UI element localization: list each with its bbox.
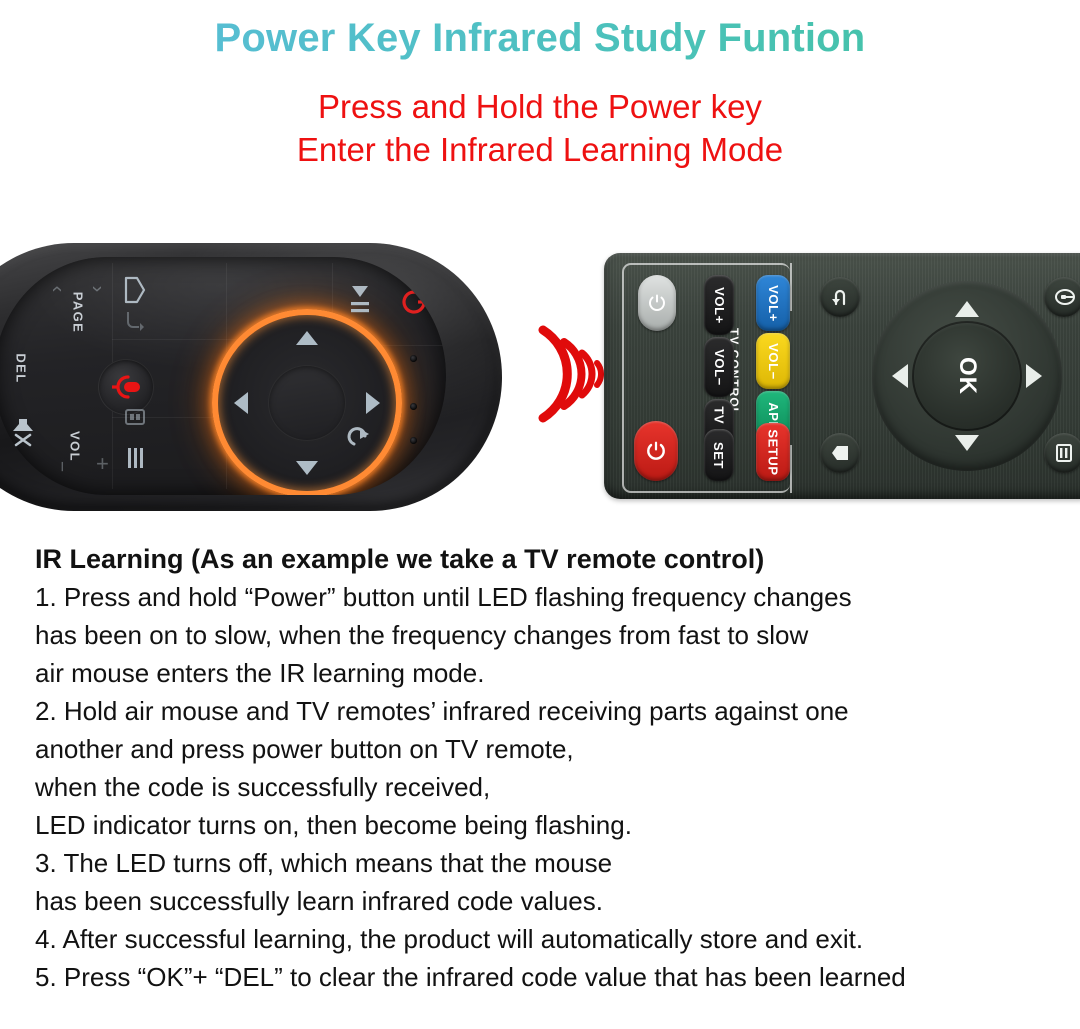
arrow-left-icon[interactable] bbox=[892, 364, 908, 388]
tv-dpad[interactable]: OK bbox=[872, 281, 1062, 471]
air-mouse-mute-button[interactable] bbox=[6, 417, 40, 451]
instruction-line: 1. Press and hold “Power” button until L… bbox=[35, 578, 1055, 616]
air-mouse-dpad-led-ring[interactable] bbox=[212, 309, 402, 495]
air-mouse-button-face: DEL PAGE ‹ › bbox=[0, 257, 446, 495]
air-mouse-page-label: PAGE bbox=[71, 285, 86, 341]
vol-up-button[interactable]: VOL+ bbox=[756, 275, 790, 331]
tv-power-button[interactable] bbox=[634, 421, 678, 481]
source-input-icon bbox=[1052, 286, 1076, 308]
arrow-right-icon[interactable] bbox=[366, 392, 380, 414]
instruction-line: 3. The LED turns off, which means that t… bbox=[35, 844, 1055, 882]
setup-label: SETUP bbox=[766, 429, 781, 475]
mute-icon bbox=[6, 417, 40, 447]
arrow-right-icon[interactable] bbox=[1026, 364, 1042, 388]
instruction-line: another and press power button on TV rem… bbox=[35, 730, 1055, 768]
air-mouse-rotate-button[interactable] bbox=[346, 425, 376, 459]
back-arrow-icon bbox=[829, 286, 851, 308]
tv-control-vol-up-button[interactable]: VOL+ bbox=[704, 275, 734, 335]
infographic-page: Power Key Infrared Study Funtion Press a… bbox=[0, 0, 1080, 1029]
ok-button[interactable]: OK bbox=[912, 321, 1022, 431]
back-button[interactable] bbox=[820, 277, 860, 317]
led-indicator-dot bbox=[410, 355, 417, 362]
tv-remote-control: TV CONTROL VOL+ VOL− TV IN SET bbox=[604, 253, 1080, 503]
instruction-line: air mouse enters the IR learning mode. bbox=[35, 654, 1055, 692]
home-icon bbox=[122, 275, 148, 305]
arrow-down-icon[interactable] bbox=[955, 435, 979, 451]
tv-control-power-button[interactable] bbox=[638, 275, 676, 331]
instruction-line: 2. Hold air mouse and TV remotes’ infrar… bbox=[35, 692, 1055, 730]
instructions-block: IR Learning (As an example we take a TV … bbox=[35, 540, 1055, 996]
menu-icon bbox=[124, 445, 148, 471]
instructions-heading: IR Learning (As an example we take a TV … bbox=[35, 540, 1055, 578]
menu-button[interactable] bbox=[1044, 433, 1080, 473]
collapse-icon bbox=[346, 283, 374, 317]
led-indicator-dot bbox=[410, 403, 417, 410]
subtitle-line-2: Enter the Infrared Learning Mode bbox=[0, 131, 1080, 169]
arrow-up-icon[interactable] bbox=[296, 331, 318, 345]
air-mouse-collapse-button[interactable] bbox=[346, 283, 374, 321]
microphone-icon bbox=[110, 370, 142, 404]
power-icon bbox=[645, 440, 667, 462]
arrow-down-icon[interactable] bbox=[296, 461, 318, 475]
air-mouse-vol-minus-label: − bbox=[52, 461, 71, 472]
instruction-line: when the code is successfully received, bbox=[35, 768, 1055, 806]
source-button[interactable] bbox=[1044, 277, 1080, 317]
vol-down-label: VOL− bbox=[766, 343, 781, 380]
tv-remote-body: TV CONTROL VOL+ VOL− TV IN SET bbox=[604, 253, 1080, 499]
page-title: Power Key Infrared Study Funtion bbox=[0, 16, 1080, 61]
tv-control-set-button[interactable]: SET bbox=[704, 429, 734, 481]
home-button[interactable] bbox=[820, 433, 860, 473]
power-icon bbox=[647, 293, 667, 313]
instruction-line: 5. Press “OK”+ “DEL” to clear the infrar… bbox=[35, 958, 1055, 996]
led-indicator-dot bbox=[410, 437, 417, 444]
home-icon bbox=[828, 442, 852, 464]
tv-control-vol-down-button[interactable]: VOL− bbox=[704, 337, 734, 397]
air-mouse-remote: DEL PAGE ‹ › bbox=[0, 243, 512, 515]
air-mouse-menu-button[interactable] bbox=[124, 445, 148, 475]
menu-icon bbox=[1054, 442, 1074, 464]
air-mouse-del-label: DEL bbox=[14, 347, 29, 391]
air-mouse-vol-plus-label: + bbox=[96, 453, 109, 475]
vol-down-button[interactable]: VOL− bbox=[756, 333, 790, 389]
arrow-up-icon[interactable] bbox=[955, 301, 979, 317]
ok-label: OK bbox=[953, 357, 981, 395]
air-mouse-power-button[interactable] bbox=[399, 287, 429, 321]
subtitle-line-1: Press and Hold the Power key bbox=[0, 88, 1080, 126]
screen-icon bbox=[124, 407, 146, 427]
setup-button[interactable]: SETUP bbox=[756, 423, 790, 481]
tv-control-vol-down-label: VOL− bbox=[712, 349, 727, 386]
tv-control-set-label: SET bbox=[712, 441, 727, 468]
instruction-line: has been successfully learn infrared cod… bbox=[35, 882, 1055, 920]
arrow-left-icon[interactable] bbox=[234, 392, 248, 414]
air-mouse-screen-button[interactable] bbox=[124, 407, 146, 431]
instruction-line: 4. After successful learning, the produc… bbox=[35, 920, 1055, 958]
air-mouse-page-prev-label: ‹ bbox=[47, 286, 67, 293]
instruction-line: LED indicator turns on, then become bein… bbox=[35, 806, 1055, 844]
tv-control-vol-up-label: VOL+ bbox=[712, 287, 727, 324]
instruction-line: has been on to slow, when the frequency … bbox=[35, 616, 1055, 654]
back-arrow-icon bbox=[124, 309, 144, 333]
vol-up-label: VOL+ bbox=[766, 285, 781, 322]
air-mouse-home-button[interactable] bbox=[122, 275, 148, 309]
power-icon bbox=[399, 287, 429, 317]
rotate-icon bbox=[346, 425, 376, 455]
air-mouse-back-button[interactable] bbox=[124, 309, 144, 337]
air-mouse-page-next-label: › bbox=[87, 286, 107, 293]
